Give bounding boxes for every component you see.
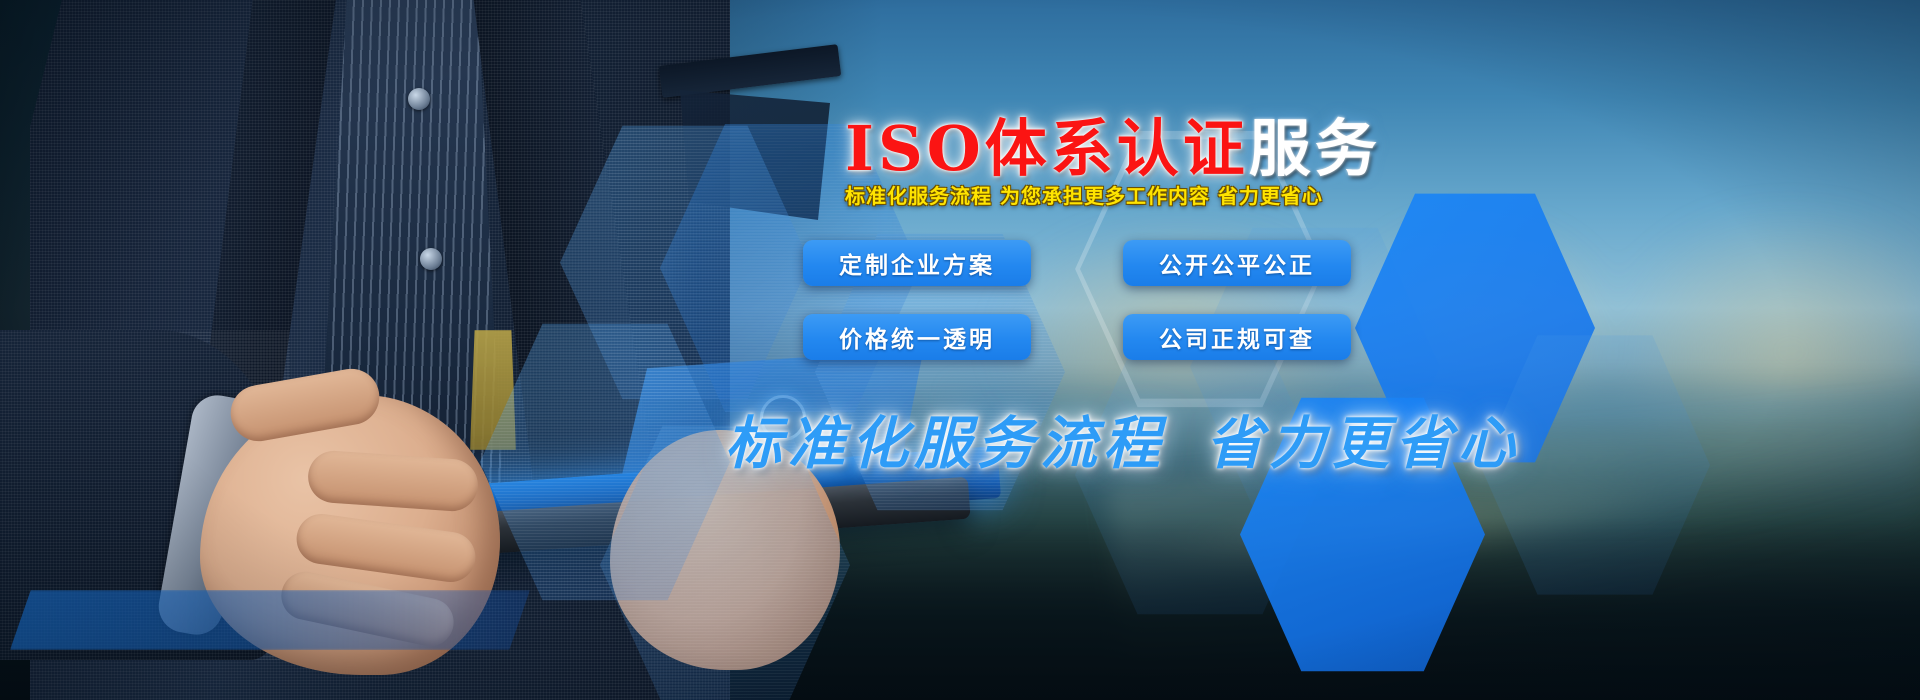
- bottom-tagline: 标准化服务流程省力更省心: [725, 398, 1521, 480]
- tagline-part-1: 标准化服务流程: [725, 410, 1166, 477]
- feature-list: 定制企业方案 公开公平公正 价格统一透明 公司正规可查: [803, 240, 1363, 388]
- feature-row: 定制企业方案 公开公平公正: [803, 240, 1363, 286]
- page-subtitle: 标准化服务流程 为您承担更多工作内容 省力更省心: [845, 180, 1323, 209]
- feature-badge-fair-open[interactable]: 公开公平公正: [1123, 240, 1351, 286]
- tagline-part-2: 省力更省心: [1206, 410, 1521, 477]
- iso-certification-banner: ISO体系认证服务 标准化服务流程 为您承担更多工作内容 省力更省心 定制企业方…: [0, 0, 1920, 700]
- banner-content: ISO体系认证服务 标准化服务流程 为您承担更多工作内容 省力更省心 定制企业方…: [0, 0, 1920, 700]
- title-highlight: ISO体系认证: [845, 112, 1249, 185]
- page-title: ISO体系认证服务: [845, 118, 1381, 180]
- title-plain: 服务: [1249, 112, 1381, 185]
- feature-badge-verified-company[interactable]: 公司正规可查: [1123, 314, 1351, 360]
- feature-badge-custom-plan[interactable]: 定制企业方案: [803, 240, 1031, 286]
- feature-row: 价格统一透明 公司正规可查: [803, 314, 1363, 360]
- feature-badge-transparent-pricing[interactable]: 价格统一透明: [803, 314, 1031, 360]
